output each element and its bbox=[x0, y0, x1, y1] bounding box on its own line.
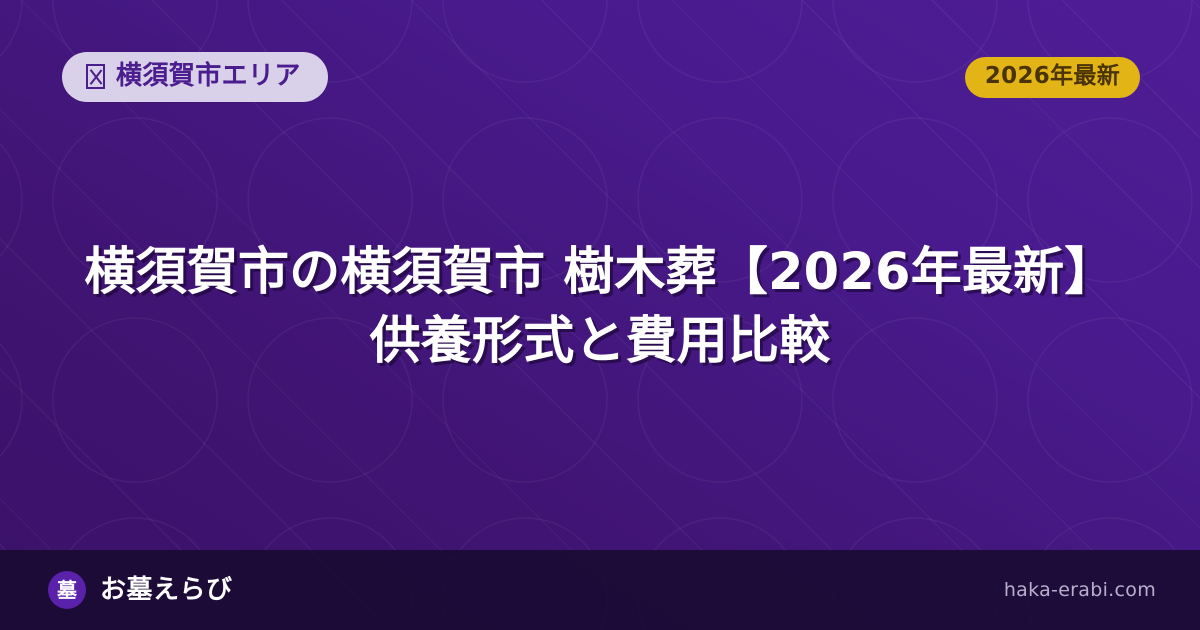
footer-bar: 墓 お墓えらび haka-erabi.com bbox=[0, 550, 1200, 630]
missing-glyph-box-icon bbox=[86, 64, 105, 89]
brand-name: お墓えらび bbox=[100, 577, 233, 603]
title-block: 横須賀市の横須賀市 樹木葬【2026年最新】 供養形式と費用比較 bbox=[0, 238, 1200, 377]
og-image-card: 横須賀市エリア 2026年最新 横須賀市の横須賀市 樹木葬【2026年最新】 供… bbox=[0, 0, 1200, 630]
page-title: 横須賀市の横須賀市 樹木葬【2026年最新】 供養形式と費用比較 bbox=[70, 238, 1130, 377]
title-line-1: 横須賀市の横須賀市 樹木葬【2026年最新】 bbox=[70, 238, 1130, 307]
brand-logo-icon: 墓 bbox=[48, 571, 86, 609]
header-badges-row: 横須賀市エリア 2026年最新 bbox=[0, 0, 1200, 150]
title-line-2: 供養形式と費用比較 bbox=[70, 307, 1130, 376]
area-badge-label: 横須賀市エリア bbox=[116, 63, 301, 89]
area-badge: 横須賀市エリア bbox=[62, 52, 328, 102]
year-badge: 2026年最新 bbox=[965, 57, 1140, 98]
site-url: haka-erabi.com bbox=[1004, 581, 1156, 600]
brand-lockup: 墓 お墓えらび bbox=[48, 571, 233, 609]
year-badge-label: 2026年最新 bbox=[985, 65, 1120, 88]
